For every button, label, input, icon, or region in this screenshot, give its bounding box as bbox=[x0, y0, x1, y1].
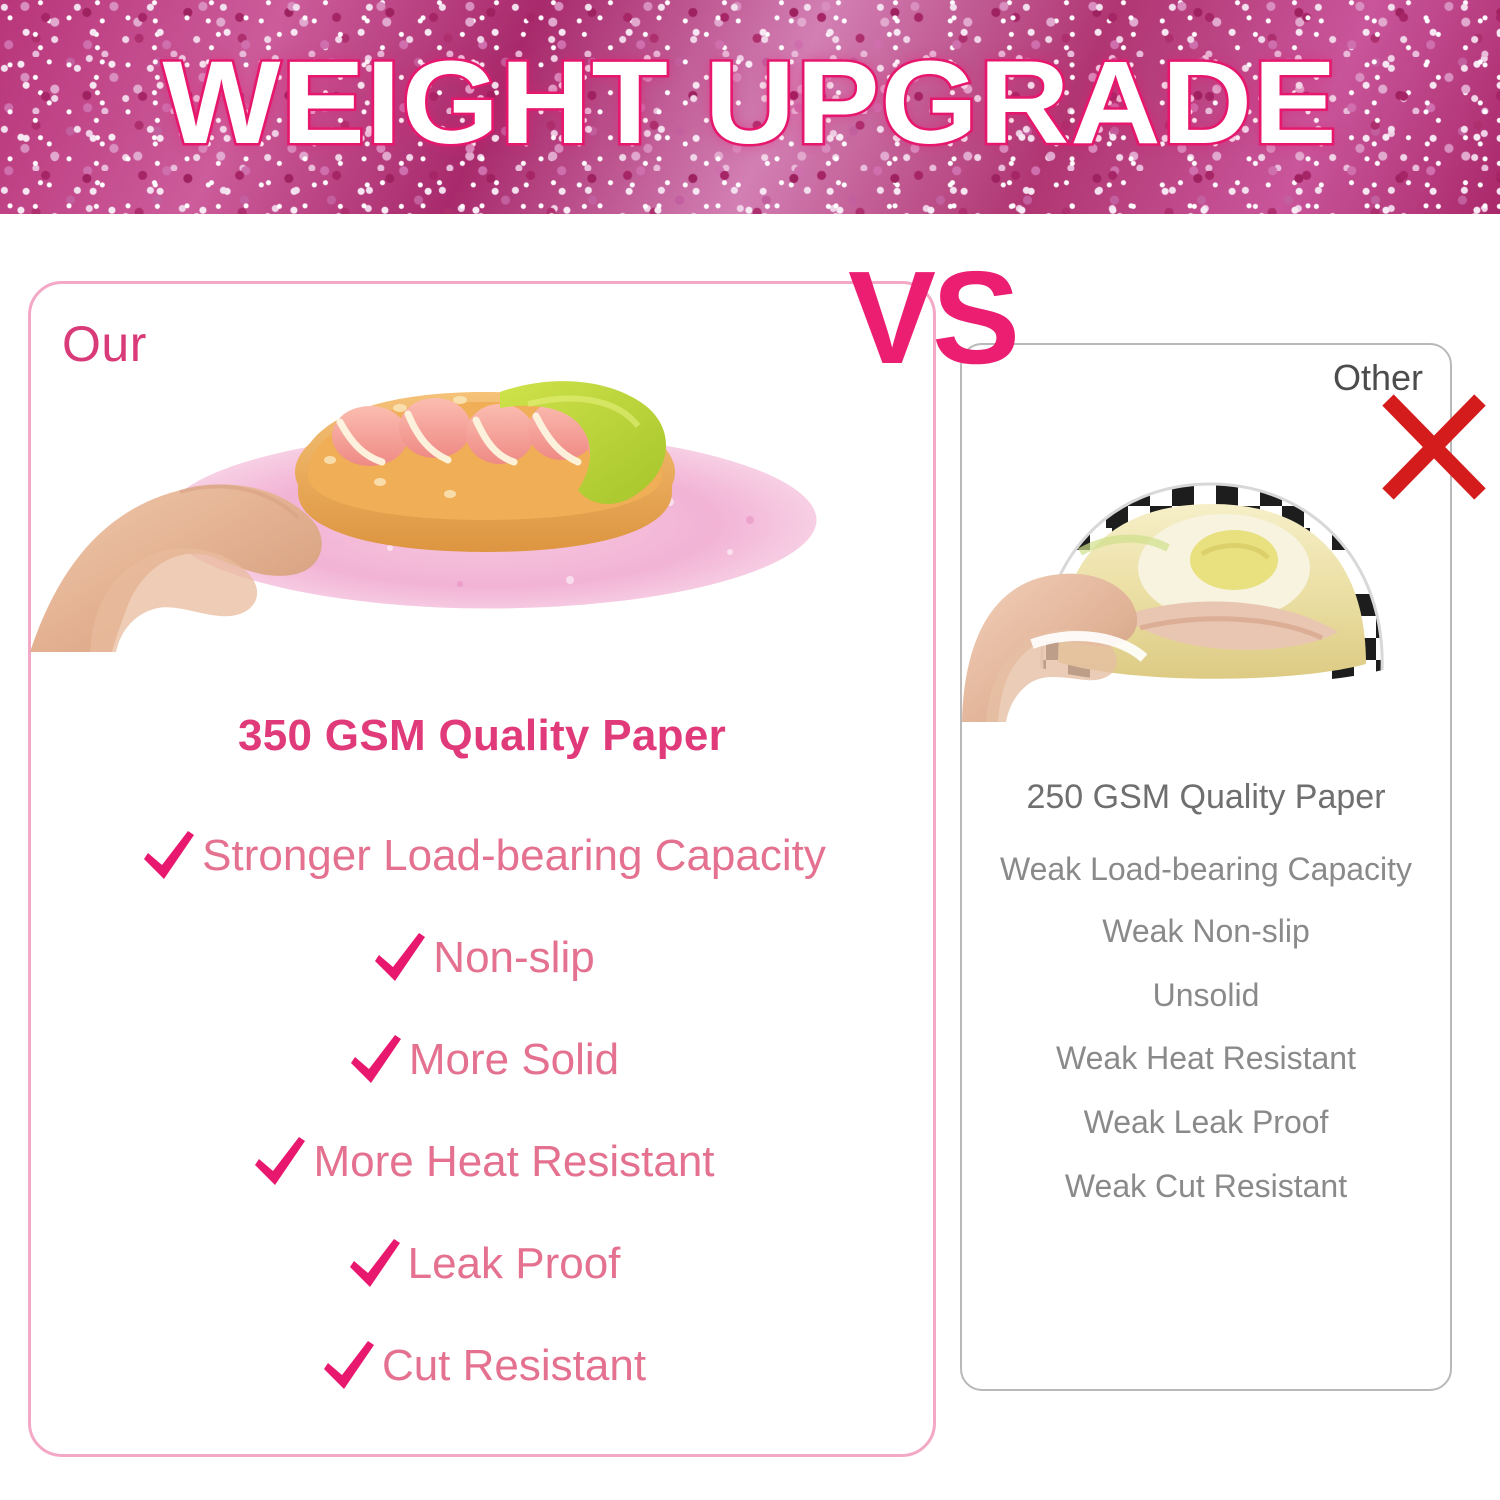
checkmark-icon bbox=[345, 1029, 407, 1091]
list-item: Non-slip bbox=[28, 907, 936, 1009]
checkmark-icon bbox=[369, 927, 431, 989]
our-gsm-heading: 350 GSM Quality Paper bbox=[28, 711, 936, 761]
checkmark-icon bbox=[249, 1131, 311, 1193]
other-feature-list: Weak Load-bearing Capacity Weak Non-slip… bbox=[960, 852, 1452, 1233]
list-item: Weak Cut Resistant bbox=[960, 1169, 1452, 1205]
vs-label: VS bbox=[848, 252, 1016, 384]
our-feature-label: Non-slip bbox=[433, 936, 594, 980]
our-feature-label: Leak Proof bbox=[408, 1242, 621, 1286]
list-item: More Heat Resistant bbox=[28, 1111, 936, 1213]
list-item: Weak Non-slip bbox=[960, 914, 1452, 950]
other-gsm-heading: 250 GSM Quality Paper bbox=[960, 778, 1452, 817]
list-item: More Solid bbox=[28, 1009, 936, 1111]
our-feature-label: More Solid bbox=[409, 1038, 619, 1082]
list-item: Leak Proof bbox=[28, 1213, 936, 1315]
infographic-canvas: WEIGHT UPGRADE Our bbox=[0, 0, 1500, 1500]
list-item: Weak Heat Resistant bbox=[960, 1041, 1452, 1077]
our-feature-label: Stronger Load-bearing Capacity bbox=[202, 834, 826, 878]
list-item: Weak Leak Proof bbox=[960, 1105, 1452, 1141]
list-item: Stronger Load-bearing Capacity bbox=[28, 805, 936, 907]
red-x-icon bbox=[1378, 392, 1490, 502]
our-feature-list: Stronger Load-bearing Capacity Non-slip … bbox=[28, 805, 936, 1417]
list-item: Cut Resistant bbox=[28, 1315, 936, 1417]
our-feature-label: Cut Resistant bbox=[382, 1344, 646, 1388]
our-feature-label: More Heat Resistant bbox=[313, 1140, 714, 1184]
our-product-photo bbox=[30, 352, 910, 652]
list-item: Unsolid bbox=[960, 978, 1452, 1014]
list-item: Weak Load-bearing Capacity bbox=[960, 852, 1452, 888]
checkmark-icon bbox=[318, 1335, 380, 1397]
header-banner: WEIGHT UPGRADE bbox=[0, 0, 1500, 214]
page-title: WEIGHT UPGRADE bbox=[0, 0, 1500, 214]
checkmark-icon bbox=[138, 825, 200, 887]
checkmark-icon bbox=[344, 1233, 406, 1295]
